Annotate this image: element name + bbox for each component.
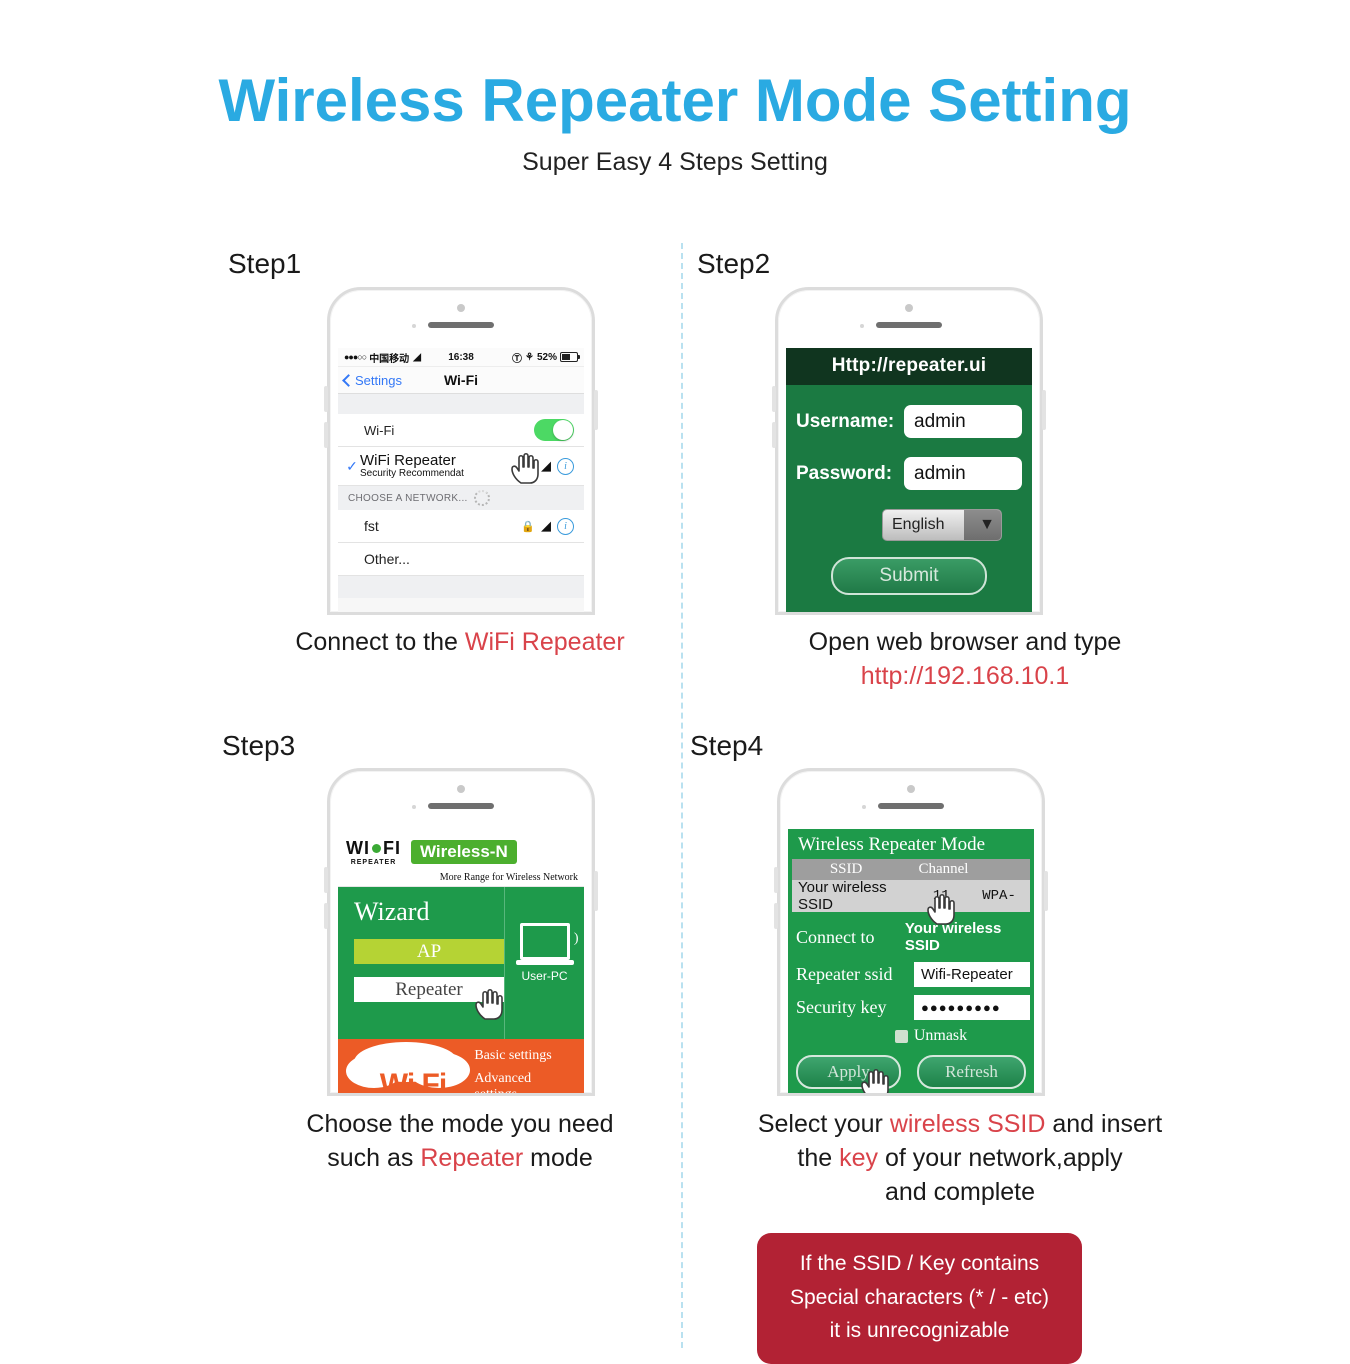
url-bar: Http://repeater.ui: [786, 348, 1032, 385]
carrier-label: 中国移动: [369, 350, 409, 365]
sensor-icon: [412, 324, 416, 328]
connect-to-label: Connect to: [792, 927, 905, 948]
caption-line-1: Choose the mode you need: [250, 1108, 670, 1142]
info-icon[interactable]: i: [557, 458, 574, 475]
caption-suffix: mode: [523, 1144, 592, 1172]
phone-mockup-1: ●●●○○ 中国移动 ◢ 16:38 Ⓣ ⚘ 52%: [327, 287, 595, 615]
info-icon[interactable]: i: [557, 518, 574, 535]
network-name: Other...: [348, 551, 410, 567]
phone-mockup-2: Http://repeater.ui Username: admin Passw…: [775, 287, 1043, 615]
submit-wrap: Submit: [796, 557, 1022, 595]
connected-network-row[interactable]: ✓ WiFi Repeater Security Recommendat ◢ i: [338, 447, 584, 486]
sensor-icon: [860, 324, 864, 328]
password-field-row: Password: admin: [796, 457, 1022, 490]
column-channel: Channel: [900, 861, 987, 878]
logo-fi: FI: [383, 838, 401, 858]
column-ssid: SSID: [792, 861, 900, 878]
router-wizard-page: WIFI REPEATER Wireless-N More Range for …: [338, 829, 584, 1093]
caption-highlight: key: [839, 1144, 878, 1172]
wizard-modes: Wizard AP Repeater: [338, 887, 504, 1039]
page-title: Wireless Repeater Mode Setting: [0, 66, 1350, 135]
ios-footer-spacer: [338, 576, 584, 598]
phone-screen-3: WIFI REPEATER Wireless-N More Range for …: [338, 829, 584, 1093]
lock-icon: 🔒: [521, 520, 535, 533]
submit-button[interactable]: Submit: [831, 557, 987, 595]
warning-line-1: If the SSID / Key contains: [767, 1247, 1072, 1281]
ios-spacer: [338, 394, 584, 414]
phone-side-button: [1042, 390, 1046, 430]
repeater-ssid-label: Repeater ssid: [792, 964, 914, 985]
wizard-footer: Wi Fi Basic settings Advanced settings: [338, 1039, 584, 1093]
wifi-word: Wi Fi: [350, 1068, 476, 1093]
ssid-table-header: SSID Channel: [792, 859, 1030, 880]
username-field-row: Username: admin: [796, 405, 1022, 438]
repeater-mode-page: Wireless Repeater Mode SSID Channel Your…: [788, 829, 1034, 1093]
caption-highlight: WiFi Repeater: [465, 628, 625, 656]
language-select-value: English: [883, 516, 944, 534]
connected-network-name: WiFi Repeater: [360, 453, 464, 469]
security-key-input[interactable]: ●●●●●●●●●: [914, 995, 1030, 1020]
phone-mockup-4: Wireless Repeater Mode SSID Channel Your…: [777, 768, 1045, 1096]
router-login-page: Http://repeater.ui Username: admin Passw…: [786, 348, 1032, 612]
laptop-icon: ): [516, 923, 574, 965]
logo-wi: WI: [346, 838, 370, 858]
camera-icon: [907, 785, 915, 793]
phone-mockup-3: WIFI REPEATER Wireless-N More Range for …: [327, 768, 595, 1096]
connect-to-value: Your wireless SSID: [905, 920, 1030, 954]
security-key-label: Security key: [792, 997, 914, 1018]
sensor-icon: [412, 805, 416, 809]
wizard-panel: Wizard AP Repeater ): [338, 887, 584, 1039]
phone-screen-1: ●●●○○ 中国移动 ◢ 16:38 Ⓣ ⚘ 52%: [338, 348, 584, 612]
mode-ap-button[interactable]: AP: [354, 939, 504, 964]
wifi-cloud-logo-icon: Wi Fi: [346, 1042, 474, 1093]
caption-highlight: wireless SSID: [890, 1110, 1046, 1138]
caption-line-1: Select your wireless SSID and insert: [690, 1108, 1230, 1142]
poster-root: Wireless Repeater Mode Setting Super Eas…: [0, 0, 1350, 1350]
speaker-icon: [876, 322, 942, 328]
ios-nav-bar: Settings Wi-Fi: [338, 367, 584, 394]
network-row[interactable]: fst 🔒 ◢ i: [338, 510, 584, 543]
step-2-label: Step2: [697, 248, 770, 280]
rotation-lock-icon: Ⓣ: [512, 350, 522, 365]
row-channel: 11: [900, 888, 982, 904]
logo-dot-icon: [372, 844, 381, 853]
repeater-ssid-row: Repeater ssid Wifi-Repeater: [792, 962, 1030, 987]
logo-sub: REPEATER: [346, 859, 401, 866]
wifi-signal-icon: ◢: [541, 518, 551, 534]
connect-to-row: Connect to Your wireless SSID: [792, 920, 1030, 954]
warning-line-3: it is unrecognizable: [767, 1314, 1072, 1348]
clock-label: 16:38: [448, 352, 474, 363]
refresh-button[interactable]: Refresh: [917, 1055, 1026, 1089]
unmask-row[interactable]: Unmask: [792, 1027, 1030, 1045]
mode-repeater-button[interactable]: Repeater: [354, 977, 504, 1002]
step-3-caption: Choose the mode you need such as Repeate…: [250, 1108, 670, 1176]
row-icon-group: ◢ i: [541, 458, 574, 475]
speaker-icon: [878, 803, 944, 809]
username-label: Username:: [796, 411, 904, 433]
caption-prefix: Select your: [758, 1110, 890, 1138]
wizard-header: WIFI REPEATER Wireless-N: [338, 829, 584, 872]
wireless-n-badge: Wireless-N: [411, 840, 517, 864]
sensor-icon: [862, 805, 866, 809]
checkmark-icon: ✓: [344, 458, 360, 475]
ssid-table-row[interactable]: Your wireless SSID 11 WPA-: [792, 880, 1030, 912]
wifi-toggle-switch[interactable]: [534, 419, 574, 441]
caption-line-1: Open web browser and type: [700, 626, 1230, 660]
network-row-other[interactable]: Other...: [338, 543, 584, 576]
speaker-icon: [428, 322, 494, 328]
caption-line-3: and complete: [690, 1176, 1230, 1210]
connected-network-subtitle: Security Recommendat: [360, 469, 464, 480]
language-select-wrap: English ▼: [796, 509, 1022, 541]
vertical-divider: [681, 243, 683, 1348]
caption-suffix: of your network,apply: [878, 1144, 1123, 1172]
repeater-mode-title: Wireless Repeater Mode: [792, 832, 1030, 859]
row-icon-group: 🔒 ◢ i: [521, 518, 574, 535]
wifi-toggle-row[interactable]: Wi-Fi: [338, 414, 584, 447]
security-key-row: Security key ●●●●●●●●●: [792, 995, 1030, 1020]
nav-title: Wi-Fi: [444, 372, 478, 388]
wizard-device: ) User-PC: [504, 887, 584, 1039]
username-input[interactable]: admin: [904, 405, 1022, 438]
password-input[interactable]: admin: [904, 457, 1022, 490]
caption-line-2: the key of your network,apply: [690, 1142, 1230, 1176]
battery-icon: [560, 352, 578, 362]
camera-icon: [457, 785, 465, 793]
chevron-down-icon[interactable]: ▼: [964, 510, 1001, 540]
back-button[interactable]: Settings: [338, 373, 402, 388]
caption-prefix: such as: [327, 1144, 420, 1172]
row-security: WPA-: [982, 888, 1030, 904]
step-2-caption: Open web browser and type http://192.168…: [700, 626, 1230, 694]
step-4-label: Step4: [690, 730, 763, 762]
phone-screen-4: Wireless Repeater Mode SSID Channel Your…: [788, 829, 1034, 1093]
caption-line-2: http://192.168.10.1: [700, 660, 1230, 694]
wizard-links: Basic settings Advanced settings: [474, 1041, 584, 1094]
back-button-label: Settings: [355, 373, 402, 388]
warning-line-2: Special characters (* / - etc): [767, 1281, 1072, 1315]
caption-prefix: Connect to the: [295, 628, 465, 656]
page-subtitle: Super Easy 4 Steps Setting: [0, 148, 1350, 177]
choose-network-label: CHOOSE A NETWORK...: [348, 493, 468, 504]
login-form: Username: admin Password: admin English …: [786, 385, 1032, 595]
wifi-signal-icon: ◢: [541, 458, 551, 474]
hand-cursor-icon: [508, 451, 540, 485]
battery-percent-label: 52%: [537, 352, 557, 363]
phone-side-button: [594, 390, 598, 430]
device-label: User-PC: [521, 969, 567, 983]
wifi-repeater-logo: WIFI REPEATER: [346, 839, 401, 866]
password-label: Password:: [796, 463, 904, 485]
caption-prefix: the: [797, 1144, 839, 1172]
unmask-label: Unmask: [914, 1027, 967, 1045]
caption-suffix: and insert: [1045, 1110, 1162, 1138]
ios-status-bar: ●●●○○ 中国移动 ◢ 16:38 Ⓣ ⚘ 52%: [338, 348, 584, 367]
wizard-title: Wizard: [354, 897, 504, 927]
step-3-label: Step3: [222, 730, 295, 762]
phone-side-button: [594, 871, 598, 911]
wifi-toggle-label: Wi-Fi: [348, 423, 394, 438]
camera-icon: [905, 304, 913, 312]
action-buttons: Apply Refresh: [792, 1055, 1030, 1089]
caption-highlight: Repeater: [420, 1144, 523, 1172]
network-name: fst: [348, 518, 379, 534]
step-1-caption: Connect to the WiFi Repeater: [240, 626, 680, 660]
unmask-checkbox[interactable]: [895, 1030, 908, 1043]
row-ssid: Your wireless SSID: [792, 879, 900, 913]
phone-side-button: [1044, 871, 1048, 911]
step-4-caption: Select your wireless SSID and insert the…: [690, 1108, 1230, 1209]
alarm-icon: ⚘: [525, 352, 534, 363]
step-1-label: Step1: [228, 248, 301, 280]
caption-line-2: such as Repeater mode: [250, 1142, 670, 1176]
loading-spinner-icon: [474, 490, 490, 506]
signal-dots-icon: ●●●○○: [344, 352, 366, 362]
apply-button[interactable]: Apply: [796, 1055, 901, 1089]
camera-icon: [457, 304, 465, 312]
status-right-group: Ⓣ ⚘ 52%: [512, 350, 578, 365]
link-advanced-settings[interactable]: Advanced settings: [474, 1071, 576, 1094]
choose-network-header: CHOOSE A NETWORK...: [338, 486, 584, 510]
link-basic-settings[interactable]: Basic settings: [474, 1048, 576, 1064]
wizard-tagline: More Range for Wireless Network: [338, 872, 584, 887]
warning-box: If the SSID / Key contains Special chara…: [757, 1233, 1082, 1364]
chevron-left-icon: [342, 374, 355, 387]
language-select[interactable]: English ▼: [882, 509, 1002, 541]
wifi-icon: ◢: [413, 352, 421, 363]
speaker-icon: [428, 803, 494, 809]
ios-wifi-settings: ●●●○○ 中国移动 ◢ 16:38 Ⓣ ⚘ 52%: [338, 348, 584, 612]
repeater-ssid-input[interactable]: Wifi-Repeater: [914, 962, 1030, 987]
phone-screen-2: Http://repeater.ui Username: admin Passw…: [786, 348, 1032, 612]
